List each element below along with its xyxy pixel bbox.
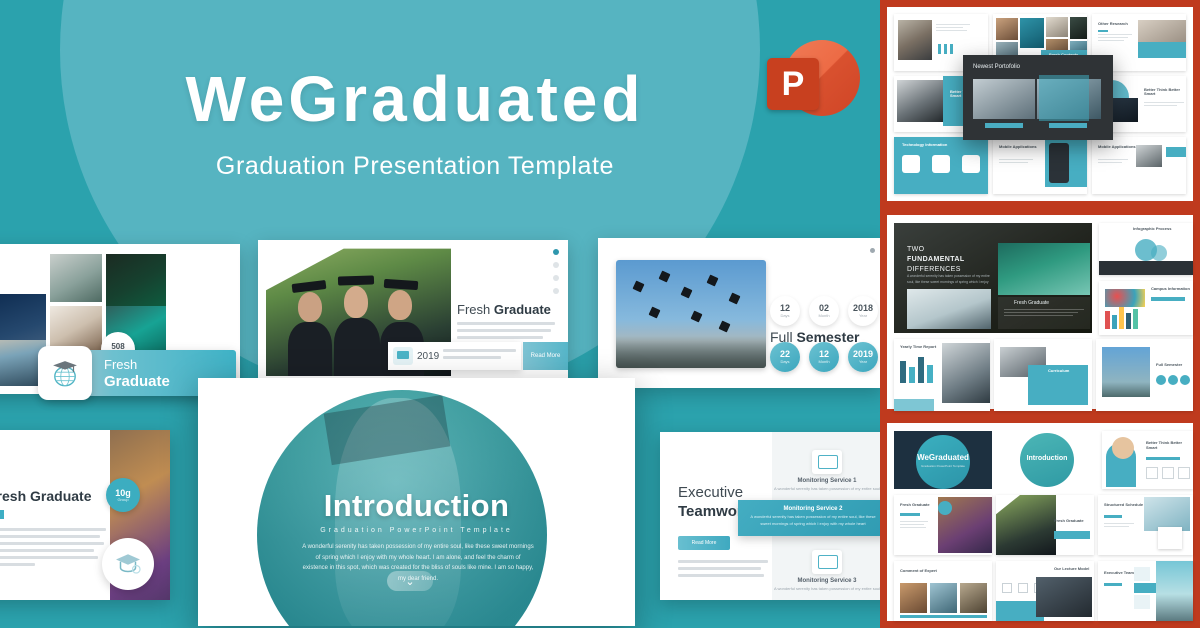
- year-info-card: 2019: [388, 342, 521, 370]
- service-item-1[interactable]: Monitoring Service 1 A wonderful serenit…: [772, 450, 880, 493]
- slide-introduction[interactable]: Introduction Graduation PowerPoint Templ…: [198, 378, 635, 626]
- executive-body-lines: [678, 560, 768, 581]
- panel2-hero-title: TWO FUNDAMENTAL DIFFERENCES: [907, 245, 965, 275]
- graduation-globe-icon: [38, 346, 92, 400]
- panel2-photo-1: 90,1%: [998, 243, 1090, 295]
- mini-slide[interactable]: Our Lecture Model: [996, 561, 1094, 621]
- fresh-graduate-tab-text: Fresh Graduate: [104, 358, 170, 390]
- circle-label: Month: [818, 360, 829, 364]
- mini-slide[interactable]: Infographic Process: [1099, 223, 1193, 275]
- mini-slide[interactable]: Executive Teamwork: [1098, 561, 1193, 621]
- introduction-subtitle: Graduation PowerPoint Template: [198, 526, 635, 537]
- panel2-fresh-graduate-card: Fresh Graduate: [998, 297, 1090, 329]
- mini-slide[interactable]: Full Semester: [1096, 339, 1193, 411]
- badge-label: Group: [117, 498, 128, 502]
- slide-corner-dot: [870, 248, 875, 253]
- mini-slide[interactable]: Mobile Applications: [993, 137, 1087, 194]
- mini-slide[interactable]: Comment of Expert: [894, 561, 992, 621]
- circle-value: 22: [780, 350, 790, 359]
- service-item-3[interactable]: Monitoring Service 3 A wonderful serenit…: [772, 550, 880, 593]
- intro-title: Introduction: [998, 455, 1096, 462]
- graduate-left-body-lines: [0, 528, 106, 570]
- read-more-button[interactable]: Read More: [678, 536, 730, 550]
- title-light: Executive: [678, 484, 743, 501]
- circle-value: 2018: [853, 304, 873, 313]
- tab-line-2: Graduate: [104, 373, 170, 390]
- graduation-cap-svg: [113, 549, 143, 579]
- hero-title: WeGraduated: [894, 453, 992, 462]
- slide-full-semester[interactable]: 12 Days 02 Month 2018 Year Full Semester…: [598, 238, 880, 388]
- read-more-button[interactable]: Read More: [523, 342, 568, 370]
- date-circle: 12 Days: [770, 296, 800, 326]
- two-fundamental-differences-slide[interactable]: TWO FUNDAMENTAL DIFFERENCES A wonderful …: [894, 223, 1092, 333]
- date-circle: 22 Days: [770, 342, 800, 372]
- preview-panel-1[interactable]: Fresh Contents Other Research Better Thi…: [880, 0, 1200, 208]
- powerpoint-letter: P: [782, 67, 805, 101]
- service-desc: A wonderful serenity has taken possessio…: [748, 514, 878, 528]
- circle-value: 12: [819, 350, 829, 359]
- introduction-title: Introduction: [198, 488, 635, 524]
- graduation-globe-svg: [48, 356, 82, 390]
- page-title: WeGraduated: [0, 62, 830, 136]
- date-circle: 02 Month: [809, 296, 839, 326]
- hero-sub: Graduation PowerPoint Template: [894, 464, 992, 468]
- slide-executive-teamwork[interactable]: Executive Teamwork Read More Monitoring …: [660, 432, 880, 600]
- service-title: Monitoring Service 1: [772, 478, 880, 484]
- laptop-icon: [393, 347, 413, 365]
- accent-bar: [0, 510, 4, 519]
- fresh-graduate-body-lines: [457, 322, 555, 343]
- dot-3[interactable]: [553, 275, 559, 281]
- slide-graduate-left[interactable]: Fresh Graduate 10g Group: [0, 430, 170, 600]
- date-circle: 2018 Year: [848, 296, 878, 326]
- mini-slide[interactable]: Fresh Graduate: [894, 495, 992, 555]
- graduate-left-title: Fresh Graduate: [0, 488, 91, 504]
- circle-value: 02: [819, 304, 829, 313]
- graduation-cap-icon: [102, 538, 154, 590]
- fresh-graduate-title: Fresh Graduate: [457, 302, 551, 317]
- chevron-down-icon[interactable]: ⌄: [387, 571, 433, 591]
- mini-slide[interactable]: Curriculum: [994, 339, 1092, 411]
- hero-banner: WeGraduated Graduation Presentation Temp…: [0, 0, 880, 628]
- circle-label: Year: [859, 314, 867, 318]
- mini-slide[interactable]: Structured Schedule: [1098, 495, 1193, 555]
- dot-1[interactable]: [553, 249, 559, 255]
- throwing-caps-photo: [616, 260, 766, 368]
- title-bold: Fresh Graduate: [0, 488, 91, 504]
- slide-pagination-dots[interactable]: [553, 249, 559, 301]
- powerpoint-square-icon: P: [767, 58, 819, 110]
- grid-photo-4: [106, 254, 166, 306]
- date-circle: 2019 Year: [848, 342, 878, 372]
- preview-panel-3[interactable]: WeGraduated Graduation PowerPoint Templa…: [880, 416, 1200, 628]
- semester-top-circles: 12 Days 02 Month 2018 Year: [770, 296, 878, 326]
- mini-slide[interactable]: Technology Information: [894, 137, 988, 194]
- circle-label: Days: [780, 360, 789, 364]
- powerpoint-logo: P: [767, 36, 859, 128]
- page-subtitle: Graduation Presentation Template: [0, 152, 830, 181]
- wegraduated-mini-slide[interactable]: WeGraduated Graduation PowerPoint Templa…: [894, 431, 992, 489]
- panel2-photo-2: [907, 289, 991, 329]
- year-note-lines: [443, 349, 516, 363]
- hero-title-2: FUNDAMENTAL: [907, 256, 965, 263]
- service-title: Monitoring Service 3: [772, 578, 880, 584]
- circle-label: Month: [818, 314, 829, 318]
- group-count-badge: 10g Group: [106, 478, 140, 512]
- overlay-title: Newest Portofolio: [973, 64, 1020, 70]
- preview-panel-2[interactable]: TWO FUNDAMENTAL DIFFERENCES A wonderful …: [880, 208, 1200, 416]
- hero-title-3: DIFFERENCES: [907, 266, 961, 273]
- mini-slide[interactable]: Mobile Applications: [1092, 137, 1186, 194]
- circle-label: Year: [859, 360, 867, 364]
- slide-fresh-graduate[interactable]: Fresh Graduate 2019 Read More: [258, 240, 568, 385]
- hero-title-1: TWO: [907, 246, 925, 253]
- service-item-2[interactable]: Monitoring Service 2 A wonderful serenit…: [738, 500, 880, 536]
- year-value: 2019: [417, 351, 439, 362]
- preview-panels: Fresh Contents Other Research Better Thi…: [880, 0, 1200, 628]
- panel2-hero-sub: A wonderful serenity has taken possessio…: [907, 274, 991, 286]
- circle-value: 12: [780, 304, 790, 313]
- mini-slide[interactable]: Yearly Time Report: [894, 339, 990, 411]
- introduction-mini-slide[interactable]: Introduction: [998, 431, 1096, 489]
- card-title: Fresh Graduate: [1014, 300, 1049, 306]
- mini-slide[interactable]: Campus Information: [1099, 281, 1193, 335]
- semester-bottom-circles: 22 Days 12 Month 2019 Year: [770, 342, 878, 372]
- dot-4[interactable]: [553, 288, 559, 294]
- monitor-icon: [812, 550, 842, 574]
- laptop-icon: [812, 450, 842, 474]
- mini-slide[interactable]: Better Think Better Smart: [1102, 431, 1193, 489]
- service-desc: A wonderful serenity has taken possessio…: [772, 586, 880, 593]
- mini-slide[interactable]: Fresh Graduate: [996, 495, 1094, 555]
- grid-photo-3: [50, 254, 102, 302]
- circle-label: Days: [780, 314, 789, 318]
- circle-value: 2019: [853, 350, 873, 359]
- newest-portofolio-overlay[interactable]: Newest Portofolio: [963, 55, 1113, 140]
- hero-circle: [916, 435, 970, 489]
- service-desc: A wonderful serenity has taken possessio…: [772, 486, 880, 493]
- tab-line-1: Fresh: [104, 358, 170, 373]
- date-circle: 12 Month: [809, 342, 839, 372]
- dot-2[interactable]: [553, 262, 559, 268]
- title-light: Fresh: [457, 302, 494, 317]
- title-bold: Graduate: [494, 302, 551, 317]
- service-title: Monitoring Service 2: [748, 506, 878, 512]
